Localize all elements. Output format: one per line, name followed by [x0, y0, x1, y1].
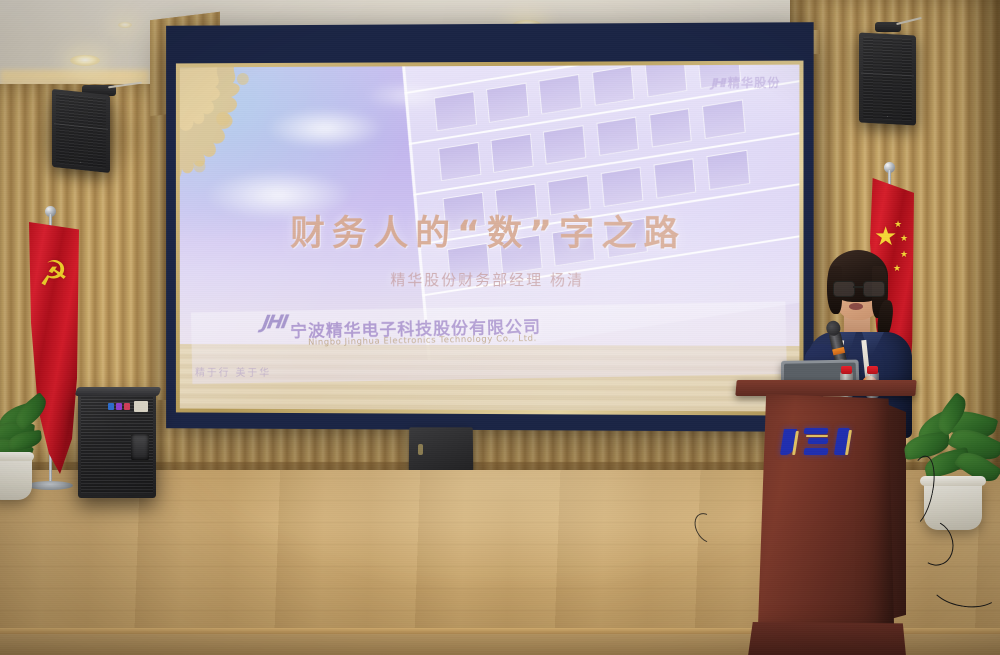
slide-subtitle: 精华股份财务部经理 杨清 — [180, 269, 800, 291]
speaker-brand-label: · — [80, 160, 82, 166]
plant-pot — [0, 456, 32, 500]
hammer-sickle-icon: ☭ — [37, 253, 66, 295]
slide-corner-logo: JHI精华股份 — [712, 73, 781, 90]
wall-speaker-right: · — [859, 33, 916, 126]
floor-speaker-cabinet — [78, 392, 156, 498]
speaker-brand-label: · — [886, 114, 888, 120]
corner-logo-text: 精华股份 — [728, 75, 781, 89]
glasses-icon — [833, 281, 883, 296]
podium-desktop — [735, 380, 916, 396]
plant-left — [0, 402, 68, 510]
projected-slide: 精华股份 JHI 宁波精华电子科技股份有限公司 Ningbo Jinghua E… — [180, 65, 800, 412]
presentation-scene-photo: 精华股份 JHI 宁波精华电子科技股份有限公司 Ningbo Jinghua E… — [0, 0, 1000, 655]
presenter-mouth — [849, 303, 863, 310]
podium — [742, 380, 910, 655]
wall-speaker-left: · — [52, 89, 110, 173]
podium-base — [748, 622, 906, 655]
slide-title: 财务人的“数”字之路 — [180, 205, 800, 256]
speaker-sticker — [134, 401, 148, 412]
corner-logo-mark: JHI — [712, 76, 725, 90]
projection-screen-frame: 精华股份 JHI 宁波精华电子科技股份有限公司 Ningbo Jinghua E… — [166, 22, 814, 432]
floor-light-reflection — [200, 470, 820, 590]
under-screen-speaker — [409, 427, 473, 471]
projection-screen-gold-trim: 精华股份 JHI 宁波精华电子科技股份有限公司 Ningbo Jinghua E… — [176, 61, 804, 416]
downlight-icon — [118, 22, 132, 28]
downlight-icon — [70, 55, 100, 66]
company-logo-mark: JHI — [260, 311, 288, 333]
podium-logo — [782, 426, 854, 458]
plant-pot-rim — [0, 452, 34, 461]
wall-right-shadow — [960, 0, 1000, 470]
speaker-status-leds — [108, 403, 130, 410]
slide-calligraphy-text: 精于行 美于华 — [195, 364, 271, 379]
